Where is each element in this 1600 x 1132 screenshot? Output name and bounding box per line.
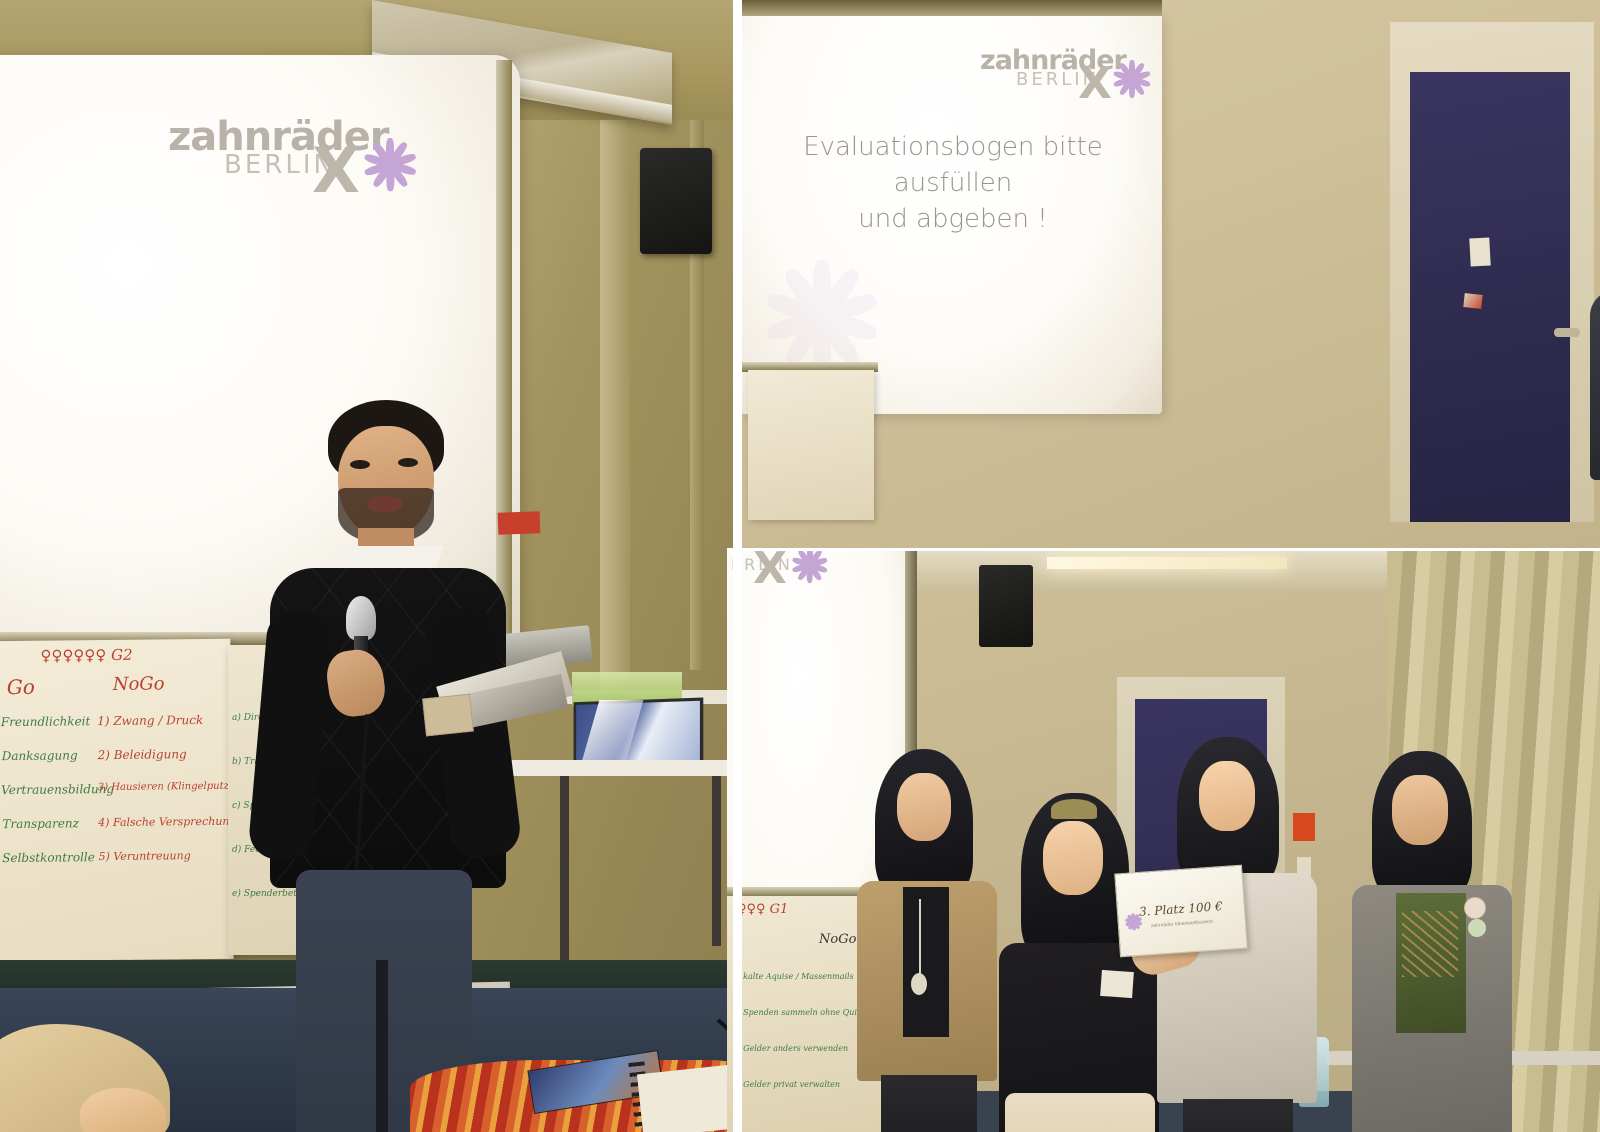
zahnraeder-logo-cropped: BERLIN X xyxy=(727,557,867,609)
door-notice xyxy=(1469,237,1490,266)
button-badge-second xyxy=(1468,919,1486,937)
name-badge xyxy=(1100,970,1134,998)
flipchart xyxy=(748,370,874,520)
gear-icon xyxy=(1112,60,1152,100)
wall-column xyxy=(600,70,630,710)
certificate-sub-line: zahnräder Ideenwettbewerb xyxy=(1129,916,1235,932)
panel-speaker-photo: zahnräder BERLIN X ♀♀♀♀♀♀ G2 Go a) Freun… xyxy=(0,0,733,1132)
person-tan-blazer xyxy=(857,749,997,1132)
nogo-item-5: 5) Veruntreuung xyxy=(99,849,191,863)
flipchart-tally: ♀♀♀ G1 xyxy=(737,902,788,917)
table-leg-left xyxy=(560,776,569,986)
door-sticker xyxy=(1463,293,1482,309)
nogo-item-2: 2) Beleidigung xyxy=(97,747,186,762)
logo-x-mark: X xyxy=(312,134,360,207)
zahnraeder-logo: zahnräder BERLIN X xyxy=(168,118,418,208)
loudspeaker xyxy=(979,565,1033,647)
slide-headline: Evaluationsbogen bitte ausfüllen und abg… xyxy=(758,130,1148,238)
prize-certificate: 3. Platz 100 € zahnräder Ideenwettbewerb xyxy=(1114,865,1248,958)
flipchart-go-heading: Go xyxy=(7,675,35,699)
nogo-item-1: 1) Zwang / Druck xyxy=(97,713,203,728)
speaker-eye-left xyxy=(350,460,370,469)
flipchart-tally: ♀♀♀♀♀♀ G2 xyxy=(40,646,132,665)
face xyxy=(1199,761,1255,831)
speaker-name-badge xyxy=(422,694,474,737)
face xyxy=(1043,821,1103,895)
slide-headline-line-2: und abgeben ! xyxy=(758,202,1148,238)
go-item-5: e) Selbstkontrolle xyxy=(0,850,95,865)
nogo-item-3: 3) Hausieren (Klingelputzen) xyxy=(98,781,245,794)
collage-gutter-vertical xyxy=(733,0,742,1132)
go-item-4: d) Transparenz xyxy=(0,816,79,831)
ceiling-light xyxy=(1047,557,1287,569)
panel-award-second-place: zahnräder BERLIN X Evaluationsbogen bitt… xyxy=(742,0,1600,548)
embroidery xyxy=(1402,911,1458,977)
gear-icon xyxy=(362,138,418,194)
slide-headline-line-1: Evaluationsbogen bitte ausfüllen xyxy=(758,130,1148,202)
black-top xyxy=(903,887,949,1037)
face xyxy=(897,773,951,841)
speaker-mouth xyxy=(368,496,402,512)
projection-screen-rail xyxy=(742,0,1162,16)
go-item-2: b) Danksagung xyxy=(0,748,78,763)
dark-shirt xyxy=(1590,290,1600,480)
cream-dress xyxy=(1005,1093,1155,1132)
door-handle[interactable] xyxy=(1554,328,1580,337)
speaker-eye-right xyxy=(398,458,418,467)
necklace-chain xyxy=(919,899,921,977)
nogo-item-1: 1. kalte Aquise / Massenmails xyxy=(733,972,854,981)
flipchart-nogo-heading: NoGo xyxy=(113,673,165,695)
photo-collage: zahnräder BERLIN X ♀♀♀♀♀♀ G2 Go a) Freun… xyxy=(0,0,1600,1132)
logo-x-mark: X xyxy=(753,551,787,594)
loudspeaker xyxy=(640,148,712,254)
zahnraeder-logo: zahnräder BERLIN X xyxy=(980,48,1180,118)
flipchart-nogo-heading: NoGo xyxy=(819,932,856,947)
spiral-notepad xyxy=(637,1062,733,1132)
panel-award-third-place: BERLIN X ♀♀♀ G1 NoGo 1. kalte Aquise / M… xyxy=(727,551,1600,1132)
hijab-band xyxy=(1051,799,1097,819)
table-leg-right xyxy=(712,776,721,946)
nogo-item-3: 3. Gelder anders verwenden xyxy=(733,1044,848,1053)
gear-icon xyxy=(791,551,829,585)
person-young-man xyxy=(1590,228,1600,548)
nogo-item-4: 4. Gelder privat verwalten xyxy=(733,1080,840,1089)
navy-door xyxy=(1410,72,1570,522)
logo-x-mark: X xyxy=(1078,58,1112,109)
button-badge xyxy=(1464,897,1486,919)
microphone-icon xyxy=(346,596,376,640)
speaker-person xyxy=(250,400,520,1132)
speaker-jeans-split xyxy=(376,960,388,1132)
person-olive-top xyxy=(1352,751,1512,1132)
flipchart-left: ♀♀♀♀♀♀ G2 Go a) Freundlichkeit b) Danksa… xyxy=(0,639,234,962)
necklace-pendant xyxy=(911,973,927,995)
face xyxy=(1392,775,1448,845)
trousers xyxy=(881,1075,977,1132)
trousers xyxy=(1183,1099,1293,1132)
collage-gutter-horizontal xyxy=(727,548,1600,551)
go-item-1: a) Freundlichkeit xyxy=(0,714,90,729)
